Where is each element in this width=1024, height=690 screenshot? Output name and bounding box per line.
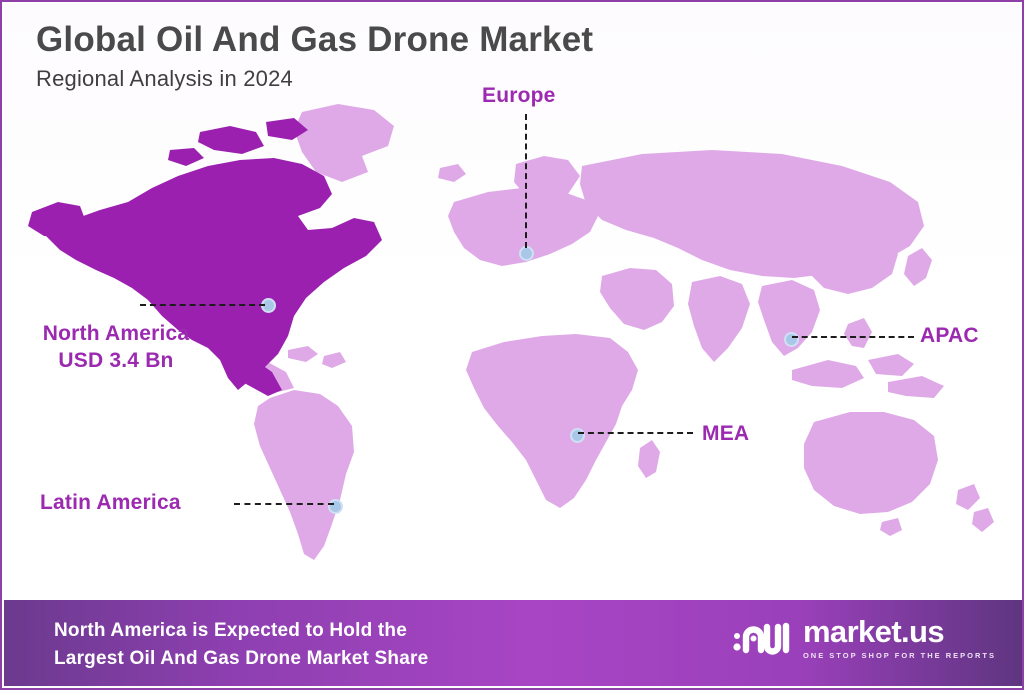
logo-wordmark: market.us	[803, 616, 996, 647]
region-caribbean-2	[322, 352, 346, 368]
region-label-north-america: North America USD 3.4 Bn	[16, 322, 216, 373]
region-caribbean-1	[288, 346, 318, 362]
leader-line-europe	[525, 114, 527, 248]
marker-apac[interactable]	[784, 332, 799, 347]
region-tasmania	[880, 518, 902, 536]
region-south-america	[254, 390, 354, 560]
banner-line-1: North America is Expected to Hold the	[54, 617, 428, 645]
region-madagascar	[638, 440, 660, 478]
market-us-logo-mark	[732, 616, 792, 660]
region-philippines	[844, 318, 872, 348]
region-label-mea: MEA	[702, 422, 749, 446]
region-new-guinea	[888, 376, 944, 398]
page-subtitle: Regional Analysis in 2024	[36, 66, 593, 92]
region-indonesia-2	[868, 354, 914, 376]
banner-line-2: Largest Oil And Gas Drone Market Share	[54, 645, 428, 673]
marker-mea[interactable]	[570, 428, 585, 443]
region-iceland	[438, 164, 466, 182]
region-name-north-america: North America	[43, 322, 190, 345]
region-value-north-america: USD 3.4 Bn	[16, 349, 216, 373]
bottom-banner: North America is Expected to Hold the La…	[4, 600, 1024, 686]
logo-tagline: ONE STOP SHOP FOR THE REPORTS	[803, 651, 996, 660]
region-label-latin-america: Latin America	[40, 491, 181, 515]
region-label-apac: APAC	[920, 324, 979, 348]
region-middle-east	[600, 268, 674, 330]
market-us-logo[interactable]: market.us ONE STOP SHOP FOR THE REPORTS	[732, 616, 996, 660]
region-indonesia-1	[792, 360, 864, 388]
marker-europe[interactable]	[519, 246, 534, 261]
leader-line-north-america	[140, 304, 265, 306]
region-india	[688, 276, 750, 362]
leader-line-apac	[792, 336, 914, 338]
region-australia	[804, 412, 938, 514]
map-base-regions	[238, 104, 994, 560]
marker-latin-america[interactable]	[328, 499, 343, 514]
banner-text: North America is Expected to Hold the La…	[54, 617, 428, 672]
region-new-zealand-2	[972, 508, 994, 532]
region-arctic-islands-1	[198, 126, 264, 154]
region-new-zealand-1	[956, 484, 980, 510]
region-arctic-islands-3	[168, 148, 204, 166]
leader-line-mea	[578, 432, 693, 434]
logo-text-wrap: market.us ONE STOP SHOP FOR THE REPORTS	[803, 616, 996, 660]
leader-line-latin-america	[234, 503, 334, 505]
page-title: Global Oil And Gas Drone Market	[36, 20, 593, 59]
header: Global Oil And Gas Drone Market Regional…	[36, 20, 593, 92]
region-africa	[466, 334, 638, 508]
infographic-card: Global Oil And Gas Drone Market Regional…	[0, 0, 1024, 690]
region-japan	[904, 248, 932, 286]
